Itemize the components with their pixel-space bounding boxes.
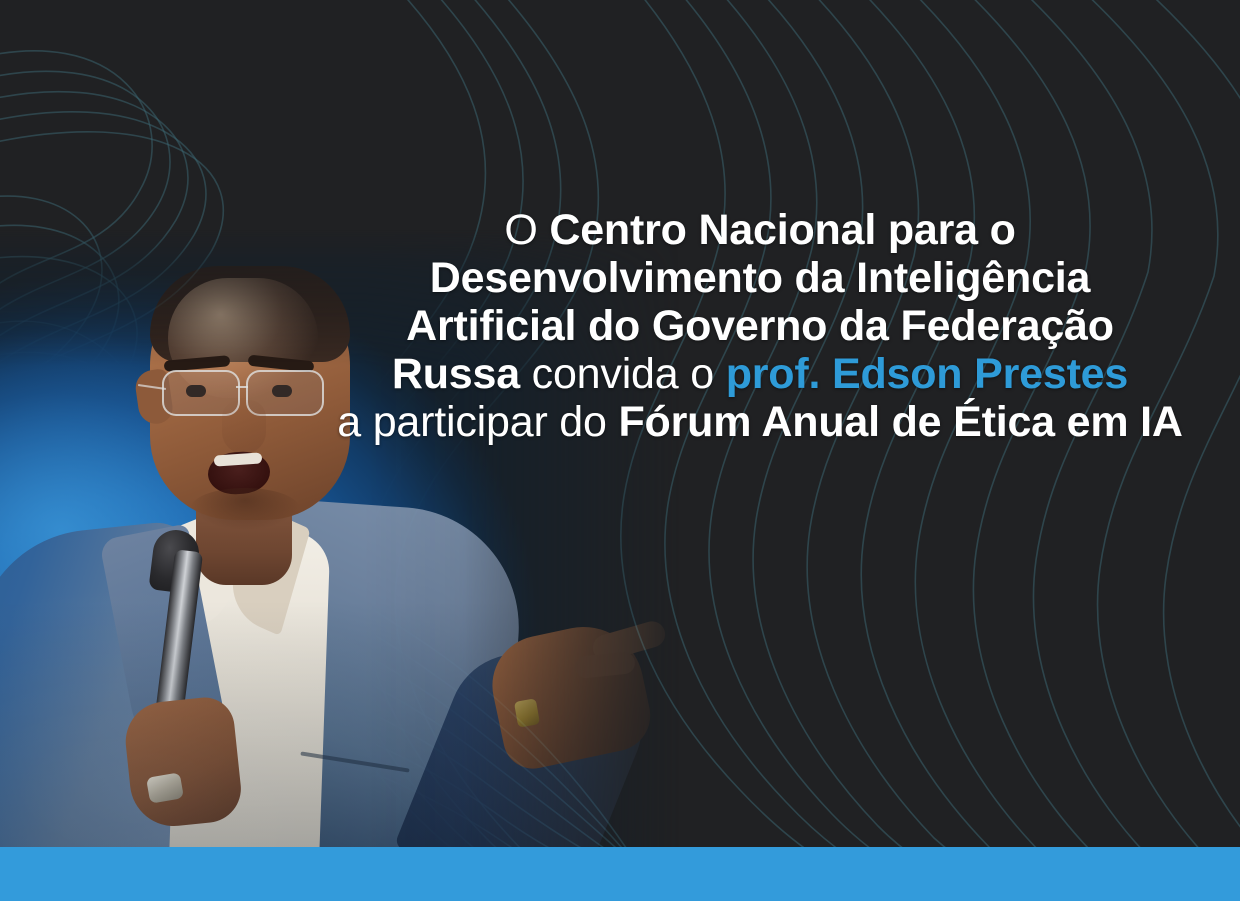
speaker-name-highlight: prof. Edson Prestes: [726, 350, 1128, 398]
headline-line-5: a participar do Fórum Anual de Ética em …: [300, 398, 1220, 446]
headline-l3-bold: Artificial do Governo da Federação: [406, 302, 1114, 350]
headline-line-1: O Centro Nacional para o: [300, 206, 1220, 254]
headline-line-2: Desenvolvimento da Inteligência: [300, 254, 1220, 302]
headline-l2-bold: Desenvolvimento da Inteligência: [430, 254, 1091, 302]
event-name-bold: Fórum Anual de Ética em IA: [618, 398, 1182, 446]
headline-l1-bold: Centro Nacional para o: [549, 206, 1015, 254]
headline-line-4: Russa convida o prof. Edson Prestes: [300, 350, 1220, 398]
headline-l5-light: a participar do: [337, 398, 618, 446]
headline-l4-bold: Russa: [392, 350, 532, 398]
headline-l4-light: convida o: [532, 350, 726, 398]
promo-banner: O Centro Nacional para o Desenvolvimento…: [0, 0, 1240, 901]
headline-l1-light: O: [504, 206, 549, 254]
bottom-accent-bar: [0, 847, 1240, 901]
headline: O Centro Nacional para o Desenvolvimento…: [300, 206, 1220, 446]
headline-line-3: Artificial do Governo da Federação: [300, 302, 1220, 350]
